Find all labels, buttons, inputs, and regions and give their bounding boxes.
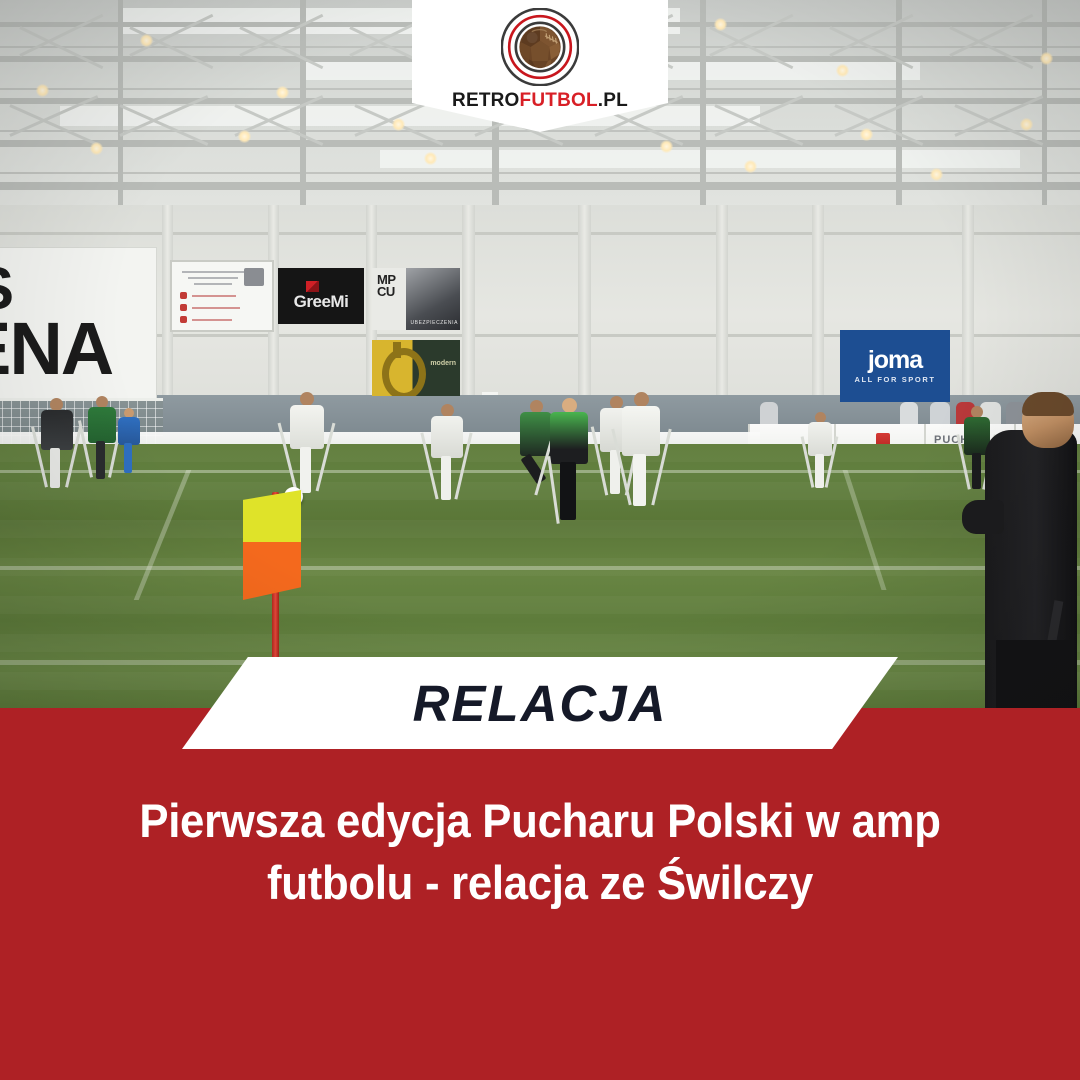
- relacja-ribbon: RELACJA: [182, 657, 898, 749]
- brand-wordmark: RETROFUTBOL.PL: [412, 90, 668, 112]
- post-title: Pierwsza edycja Pucharu Polski w amp fut…: [103, 790, 977, 914]
- social-post-card: S ENA GreeMi MPCU UBEZPIECZENIA: [0, 0, 1080, 1080]
- brand-word-futbol: FUTBOL: [520, 90, 598, 111]
- brand-word-retro: RETRO: [452, 90, 520, 111]
- ribbon-label: RELACJA: [413, 674, 668, 733]
- retro-football-icon: [501, 8, 579, 86]
- brand-word-tld: .PL: [598, 90, 628, 111]
